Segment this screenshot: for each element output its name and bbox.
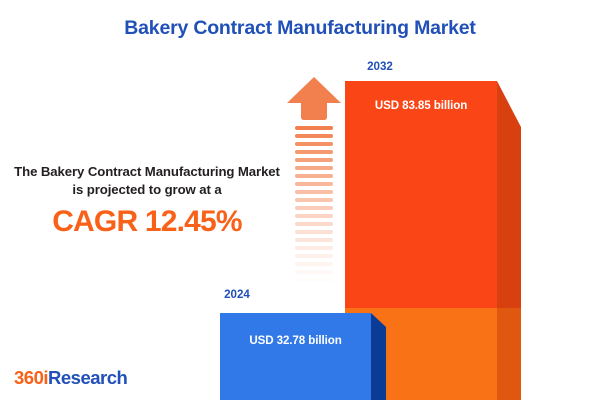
bar-2032-front-face [345, 81, 497, 308]
bar-2024-side-face [371, 327, 386, 400]
arrow-stripe [295, 222, 333, 226]
brand-logo-name: Research [48, 367, 127, 388]
bar-2032-side-face-lower [497, 308, 521, 400]
arrow-stripe [295, 190, 333, 194]
arrow-stripe [295, 286, 333, 290]
arrow-stripe-stack [295, 126, 333, 298]
arrow-stripe [295, 134, 333, 138]
arrow-stripe [295, 262, 333, 266]
arrow-stripe [295, 270, 333, 274]
arrow-stripe [295, 278, 333, 282]
arrow-stripe [295, 230, 333, 234]
arrow-stripe [295, 126, 333, 130]
infographic-canvas: Bakery Contract Manufacturing Market The… [0, 0, 600, 400]
arrow-stripe [295, 158, 333, 162]
brand-logo: 360iResearch [14, 367, 127, 389]
arrow-stripe [295, 166, 333, 170]
arrow-stripe [295, 182, 333, 186]
arrow-stripe [295, 150, 333, 154]
arrow-stripe [295, 254, 333, 258]
growth-statement-text: The Bakery Contract Manufacturing Market… [8, 163, 286, 199]
arrow-stripe [295, 198, 333, 202]
bar-2032-value-label: USD 83.85 billion [345, 99, 497, 112]
arrow-stripe [295, 238, 333, 242]
bar-2024-side-bevel [371, 313, 386, 327]
bar-2024-value-label: USD 32.78 billion [220, 334, 371, 347]
brand-logo-mark: 360i [14, 367, 48, 388]
bar-2032-side-face [497, 127, 521, 308]
arrow-stripe [295, 206, 333, 210]
arrow-stripe [295, 142, 333, 146]
bar-label-2024: 2024 [207, 288, 267, 301]
bar-2024-front-face [220, 313, 371, 400]
bar-2032-side-bevel [497, 81, 521, 127]
arrow-stripe [295, 246, 333, 250]
arrow-stripe [295, 214, 333, 218]
statement-block: The Bakery Contract Manufacturing Market… [8, 163, 286, 238]
page-title: Bakery Contract Manufacturing Market [0, 17, 600, 40]
bar-label-2032: 2032 [345, 60, 415, 73]
cagr-value: CAGR 12.45% [8, 206, 286, 238]
growth-arrow-icon [286, 76, 342, 298]
arrow-stripe [295, 174, 333, 178]
arrow-head-icon [286, 76, 342, 125]
